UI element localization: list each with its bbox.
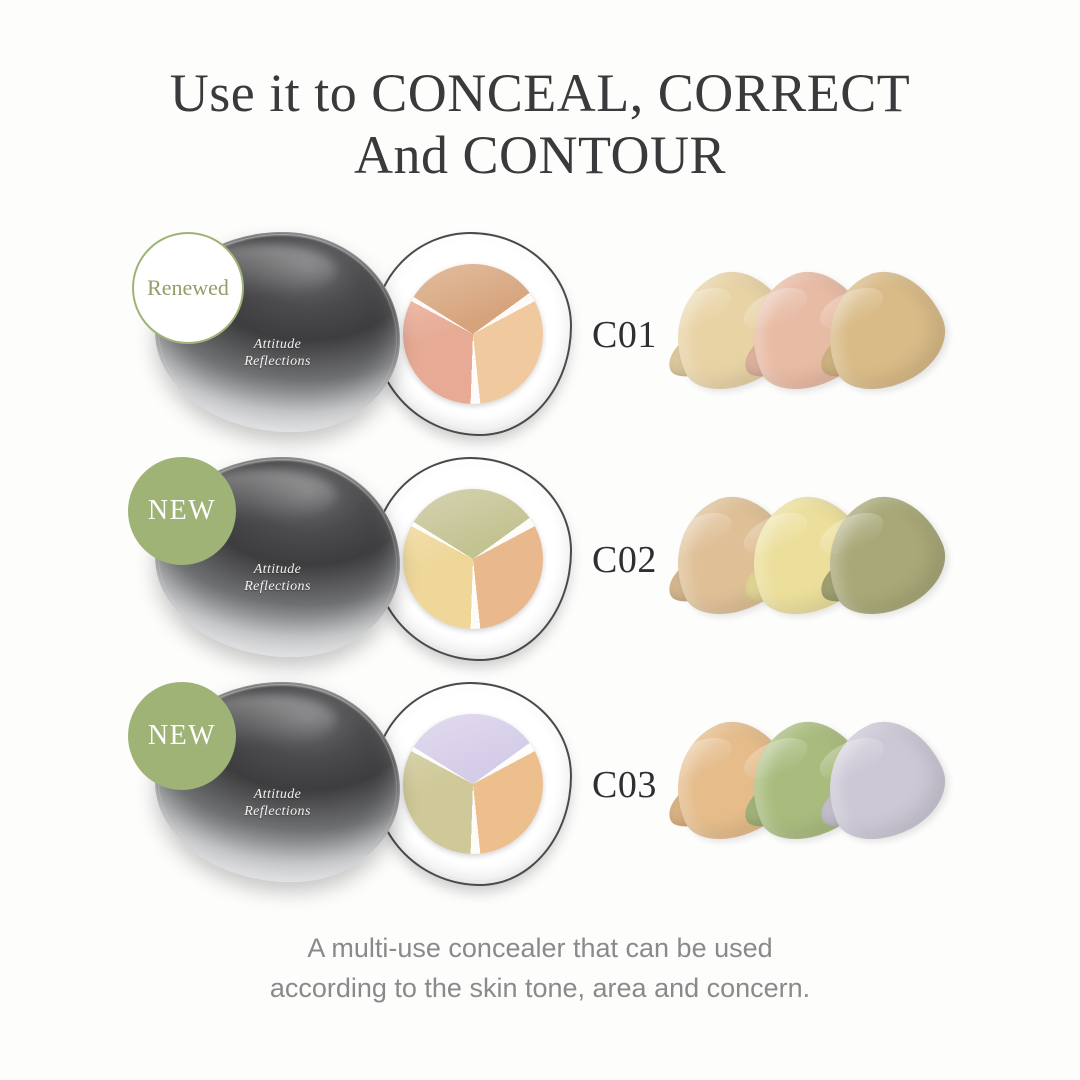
brand-line-1: Attitude — [254, 787, 302, 802]
swatch-body — [806, 480, 959, 630]
swatch-body — [806, 255, 959, 405]
caption: A multi-use concealer that can be used a… — [0, 928, 1080, 1008]
badge-label: Renewed — [147, 275, 229, 301]
swatch-3 — [824, 274, 944, 394]
pan-c02 — [403, 489, 543, 629]
caption-line-2: according to the skin tone, area and con… — [0, 968, 1080, 1008]
badge-label: NEW — [148, 495, 216, 527]
badge-renewed: Renewed — [132, 232, 244, 344]
brand-name: Attitude Reflections — [155, 561, 400, 595]
brand-line-2: Reflections — [244, 804, 311, 819]
compact-c01: Attitude Reflections Renewed — [120, 222, 600, 447]
swatch-3 — [824, 499, 944, 619]
badge-new: NEW — [128, 457, 236, 565]
brand-line-1: Attitude — [254, 562, 302, 577]
brand-line-1: Attitude — [254, 337, 302, 352]
swatches-c02 — [672, 447, 972, 672]
swatch-body — [806, 705, 959, 855]
badge-label: NEW — [148, 720, 216, 752]
pan-gloss — [403, 489, 543, 629]
compact-base-inner — [379, 688, 566, 880]
compact-base — [375, 234, 570, 434]
compact-base-inner — [379, 463, 566, 655]
compact-base-inner — [379, 238, 566, 430]
pan-c01 — [403, 264, 543, 404]
compact-base — [375, 459, 570, 659]
swatches-c03 — [672, 672, 972, 897]
shade-row-c02: Attitude Reflections NEW C02 — [0, 447, 1080, 672]
badge-new: NEW — [128, 682, 236, 790]
brand-name: Attitude Reflections — [155, 786, 400, 820]
compact-c03: Attitude Reflections NEW — [120, 672, 600, 897]
brand-line-2: Reflections — [244, 579, 311, 594]
compact-c02: Attitude Reflections NEW — [120, 447, 600, 672]
page-title: Use it to CONCEAL, CORRECT And CONTOUR — [0, 62, 1080, 186]
headline-line-2: And CONTOUR — [0, 124, 1080, 186]
brand-line-2: Reflections — [244, 354, 311, 369]
pan-gloss — [403, 264, 543, 404]
headline-line-1: Use it to CONCEAL, CORRECT — [0, 62, 1080, 124]
caption-line-1: A multi-use concealer that can be used — [0, 928, 1080, 968]
shade-row-c01: Attitude Reflections Renewed C01 — [0, 222, 1080, 447]
compact-base — [375, 684, 570, 884]
pan-c03 — [403, 714, 543, 854]
shade-row-c03: Attitude Reflections NEW C03 — [0, 672, 1080, 897]
swatches-c01 — [672, 222, 972, 447]
swatch-3 — [824, 724, 944, 844]
pan-gloss — [403, 714, 543, 854]
product-marketing-image: Use it to CONCEAL, CORRECT And CONTOUR — [0, 0, 1080, 1080]
